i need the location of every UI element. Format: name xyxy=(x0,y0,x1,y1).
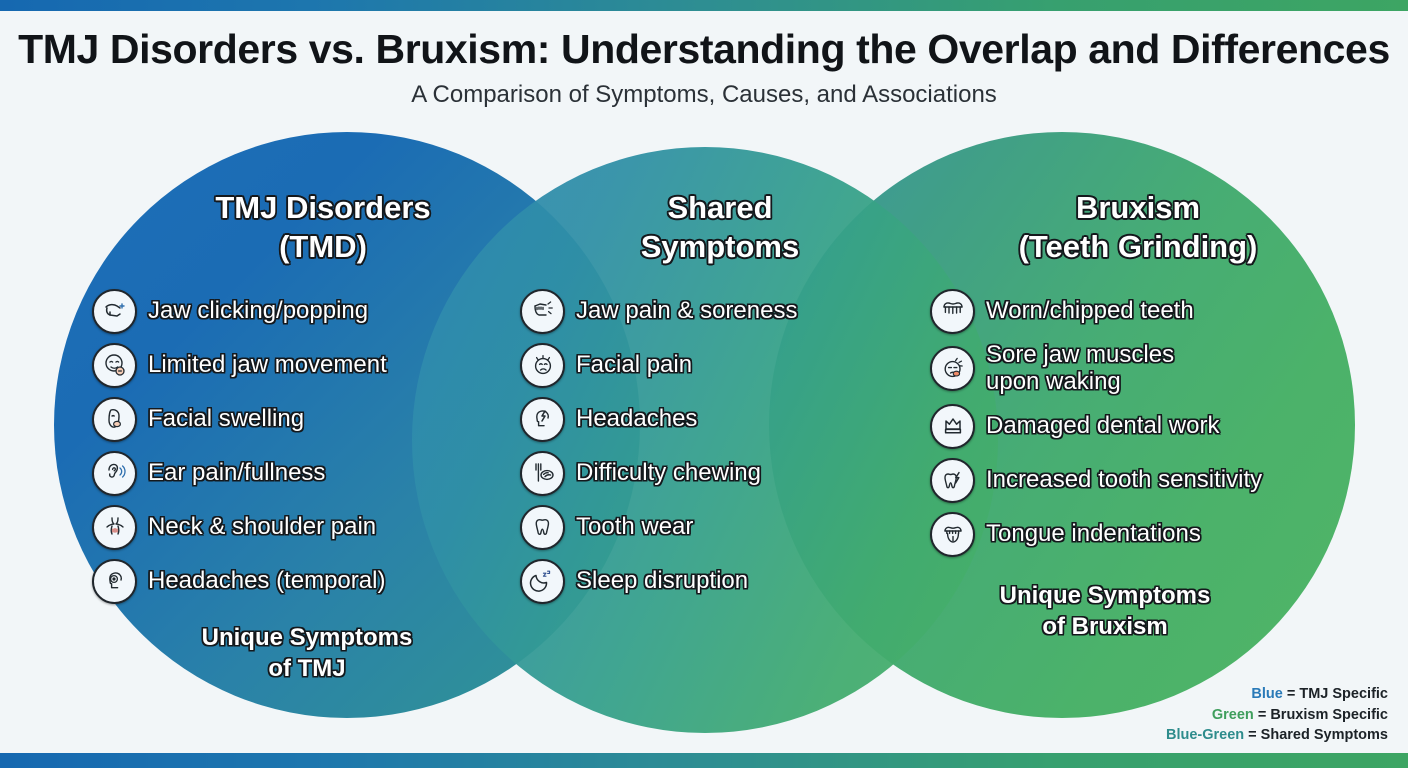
tmj-heading-line2: (TMD) xyxy=(92,227,554,266)
list-item[interactable]: Difficulty chewing xyxy=(520,450,920,496)
difficulty-chewing-icon xyxy=(520,451,565,496)
limited-jaw-icon xyxy=(92,343,137,388)
list-item[interactable]: Headaches (temporal) xyxy=(92,558,592,604)
jaw-clicking-icon xyxy=(92,289,137,334)
list-item-label: Headaches (temporal) xyxy=(148,568,385,595)
list-item-label: Limited jaw movement xyxy=(148,352,387,379)
worn-teeth-icon xyxy=(930,289,975,334)
headache-icon xyxy=(520,397,565,442)
list-item-label: Sore jaw muscles upon waking xyxy=(986,342,1174,396)
list-item[interactable]: Tongue indentations xyxy=(930,512,1390,558)
list-item[interactable]: Ear pain/fullness xyxy=(92,450,592,496)
bruxism-footer-line1: Unique Symptoms xyxy=(930,580,1280,611)
legend-eq-blue: = xyxy=(1283,686,1300,702)
list-item-label: Sleep disruption xyxy=(576,568,748,595)
tmj-column: TMJ Disorders (TMD) Jaw clicking/popping… xyxy=(92,188,592,684)
list-item-label: Difficulty chewing xyxy=(576,460,761,487)
legend: Blue = TMJ Specific Green = Bruxism Spec… xyxy=(1166,684,1388,746)
list-item-label: Jaw pain & soreness xyxy=(576,298,797,325)
shared-column: Shared Symptoms Jaw pain & soreness Faci… xyxy=(520,188,920,612)
list-item[interactable]: Jaw clicking/popping xyxy=(92,288,592,334)
list-item-label: Facial pain xyxy=(576,352,692,379)
legend-row-green: Green = Bruxism Specific xyxy=(1166,705,1388,726)
sore-jaw-icon xyxy=(930,346,975,391)
sleep-disruption-icon xyxy=(520,559,565,604)
list-item-label: Tooth wear xyxy=(576,514,693,541)
legend-key-bluegreen: Blue-Green xyxy=(1166,727,1244,743)
bruxism-heading: Bruxism (Teeth Grinding) xyxy=(930,188,1390,266)
list-item[interactable]: Tooth wear xyxy=(520,504,920,550)
list-item[interactable]: Limited jaw movement xyxy=(92,342,592,388)
legend-row-bluegreen: Blue-Green = Shared Symptoms xyxy=(1166,725,1388,746)
shared-heading-line1: Shared xyxy=(520,188,920,227)
list-item[interactable]: Sore jaw muscles upon waking xyxy=(930,342,1390,396)
tooth-sensitivity-icon xyxy=(930,458,975,503)
jaw-pain-icon xyxy=(520,289,565,334)
legend-eq-green: = xyxy=(1254,707,1271,723)
list-item[interactable]: Facial swelling xyxy=(92,396,592,442)
list-item[interactable]: Damaged dental work xyxy=(930,404,1390,450)
bruxism-heading-line2: (Teeth Grinding) xyxy=(930,227,1346,266)
infographic-canvas: TMJ Disorders vs. Bruxism: Understanding… xyxy=(0,0,1408,768)
list-item-label: Headaches xyxy=(576,406,697,433)
tmj-heading: TMJ Disorders (TMD) xyxy=(92,188,592,266)
legend-key-blue: Blue xyxy=(1251,686,1282,702)
list-item[interactable]: Worn/chipped teeth xyxy=(930,288,1390,334)
list-item-label: Increased tooth sensitivity xyxy=(986,467,1262,494)
list-item[interactable]: Increased tooth sensitivity xyxy=(930,458,1390,504)
facial-pain-icon xyxy=(520,343,565,388)
list-item[interactable]: Facial pain xyxy=(520,342,920,388)
list-item[interactable]: Neck & shoulder pain xyxy=(92,504,592,550)
list-item-label: Damaged dental work xyxy=(986,413,1219,440)
tongue-icon xyxy=(930,512,975,557)
legend-value-blue: TMJ Specific xyxy=(1299,686,1388,702)
legend-row-blue: Blue = TMJ Specific xyxy=(1166,684,1388,705)
dental-crown-icon xyxy=(930,404,975,449)
legend-key-green: Green xyxy=(1212,707,1254,723)
tmj-footer-line1: Unique Symptoms xyxy=(92,622,522,653)
list-item-label: Tongue indentations xyxy=(986,521,1201,548)
bottom-accent-bar xyxy=(0,753,1408,768)
neck-shoulder-icon xyxy=(92,505,137,550)
list-item[interactable]: Headaches xyxy=(520,396,920,442)
facial-swelling-icon xyxy=(92,397,137,442)
shared-symptom-list: Jaw pain & soreness Facial pain Headache… xyxy=(520,288,920,604)
list-item-label: Jaw clicking/popping xyxy=(148,298,368,325)
ear-pain-icon xyxy=(92,451,137,496)
legend-value-bluegreen: Shared Symptoms xyxy=(1261,727,1388,743)
bruxism-footer: Unique Symptoms of Bruxism xyxy=(930,580,1390,642)
list-item-label: Neck & shoulder pain xyxy=(148,514,376,541)
bruxism-heading-line1: Bruxism xyxy=(930,188,1346,227)
legend-value-green: Bruxism Specific xyxy=(1270,707,1388,723)
bruxism-symptom-list: Worn/chipped teeth Sore jaw muscles upon… xyxy=(930,288,1390,558)
tooth-wear-icon xyxy=(520,505,565,550)
bruxism-footer-line2: of Bruxism xyxy=(930,611,1280,642)
tmj-symptom-list: Jaw clicking/popping Limited jaw movemen… xyxy=(92,288,592,604)
list-item[interactable]: Jaw pain & soreness xyxy=(520,288,920,334)
list-item[interactable]: Sleep disruption xyxy=(520,558,920,604)
shared-heading-line2: Symptoms xyxy=(520,227,920,266)
shared-heading: Shared Symptoms xyxy=(520,188,920,266)
tmj-heading-line1: TMJ Disorders xyxy=(92,188,554,227)
tmj-footer-line2: of TMJ xyxy=(92,653,522,684)
list-item-label: Facial swelling xyxy=(148,406,304,433)
list-item-label: Worn/chipped teeth xyxy=(986,298,1194,325)
bruxism-column: Bruxism (Teeth Grinding) Worn/chipped te… xyxy=(930,188,1390,642)
list-item-label: Ear pain/fullness xyxy=(148,460,325,487)
tmj-footer: Unique Symptoms of TMJ xyxy=(92,622,592,684)
legend-eq-bluegreen: = xyxy=(1244,727,1261,743)
headache-temporal-icon xyxy=(92,559,137,604)
